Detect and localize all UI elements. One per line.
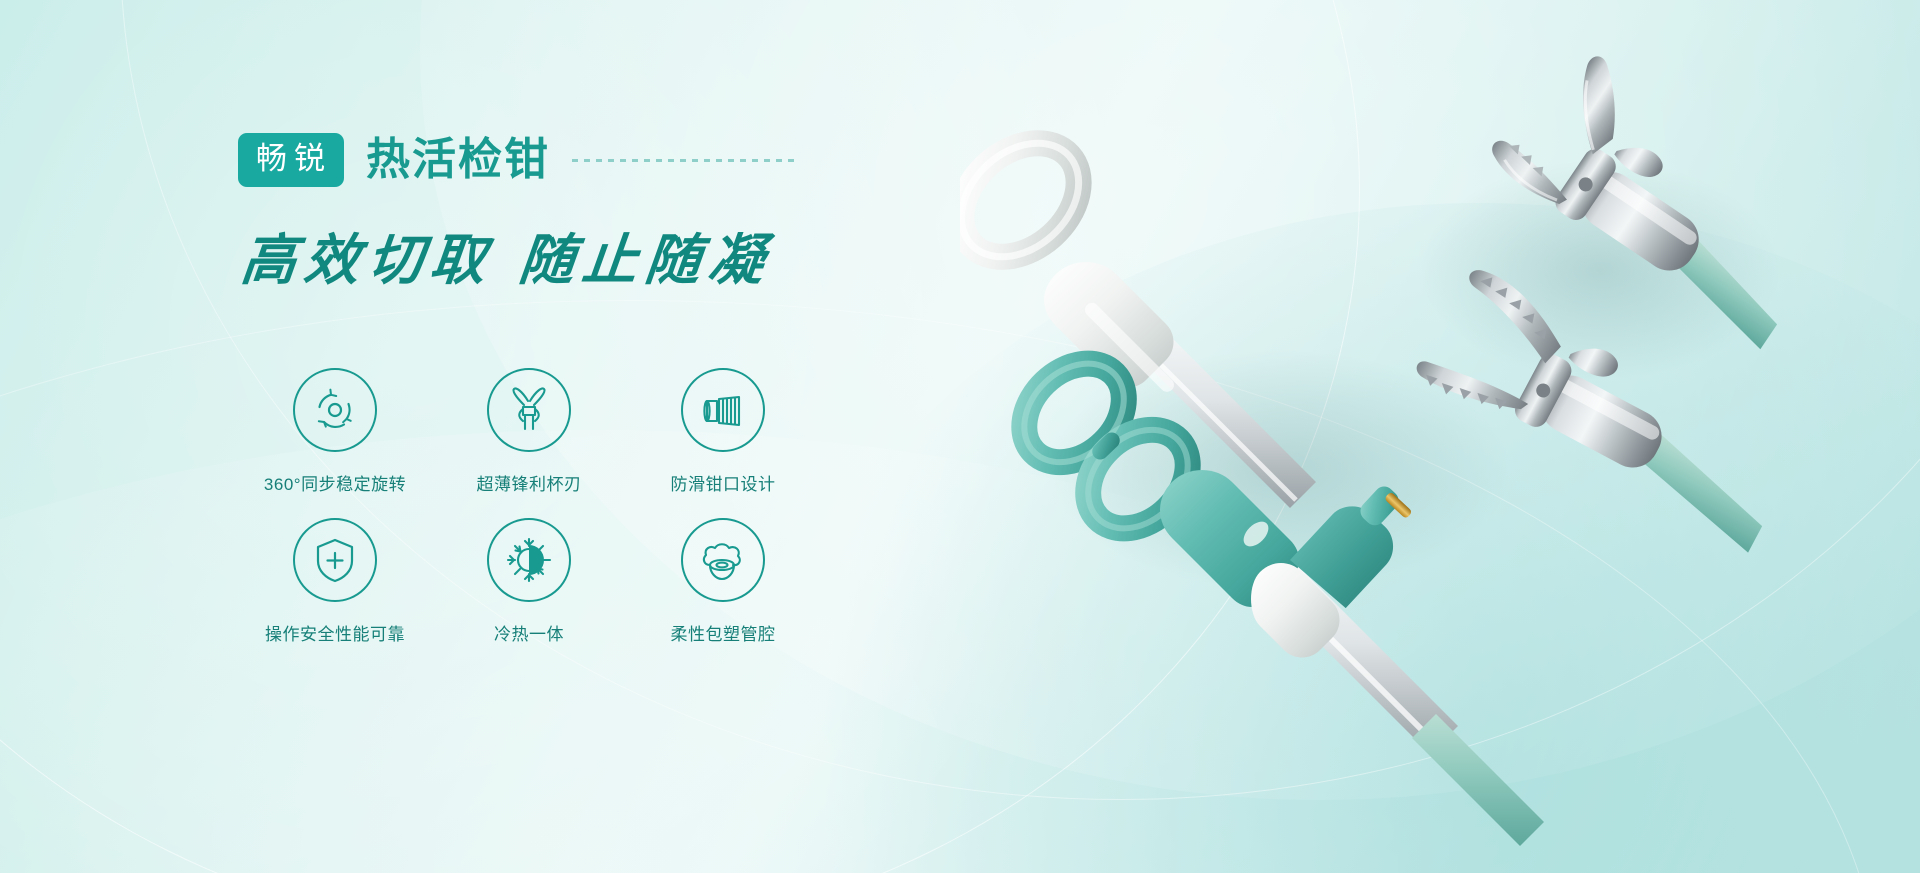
feature-label: 超薄锋利杯刃 xyxy=(477,470,582,495)
flexible-lumen-icon xyxy=(681,518,765,602)
feature-item: 超薄锋利杯刃 xyxy=(432,368,626,518)
feature-label: 防滑钳口设计 xyxy=(671,470,776,495)
thin-sharp-cup-icon xyxy=(487,368,571,452)
feature-label: 冷热一体 xyxy=(494,620,564,645)
dotted-divider xyxy=(572,159,794,162)
feature-label: 柔性包塑管腔 xyxy=(671,620,776,645)
hot-biopsy-forceps-photo xyxy=(960,0,1920,873)
banner-content: 畅锐 热活检钳 高效切取随止随凝 xyxy=(238,0,938,873)
slogan-right: 随止随凝 xyxy=(516,230,774,291)
title-row: 畅锐 热活检钳 xyxy=(238,131,794,189)
feature-item: 操作安全性能可靠 xyxy=(238,518,432,668)
rotation-360-icon xyxy=(293,368,377,452)
page-title: 热活检钳 xyxy=(366,138,550,182)
feature-item: 柔性包塑管腔 xyxy=(626,518,820,668)
feature-item: 防滑钳口设计 xyxy=(626,368,820,518)
feature-grid: 360°同步稳定旋转 超薄锋利杯刃 xyxy=(238,368,820,668)
feature-item: 冷热一体 xyxy=(432,518,626,668)
brand-badge: 畅锐 xyxy=(238,133,344,187)
slogan: 高效切取随止随凝 xyxy=(238,215,776,295)
feature-label: 360°同步稳定旋转 xyxy=(264,470,406,495)
hot-cold-icon xyxy=(487,518,571,602)
slogan-left: 高效切取 xyxy=(238,230,496,291)
shield-plus-icon xyxy=(293,518,377,602)
feature-label: 操作安全性能可靠 xyxy=(265,620,405,645)
anti-slip-jaw-icon xyxy=(681,368,765,452)
feature-item: 360°同步稳定旋转 xyxy=(238,368,432,518)
product-banner: 畅锐 热活检钳 高效切取随止随凝 xyxy=(0,0,1920,873)
